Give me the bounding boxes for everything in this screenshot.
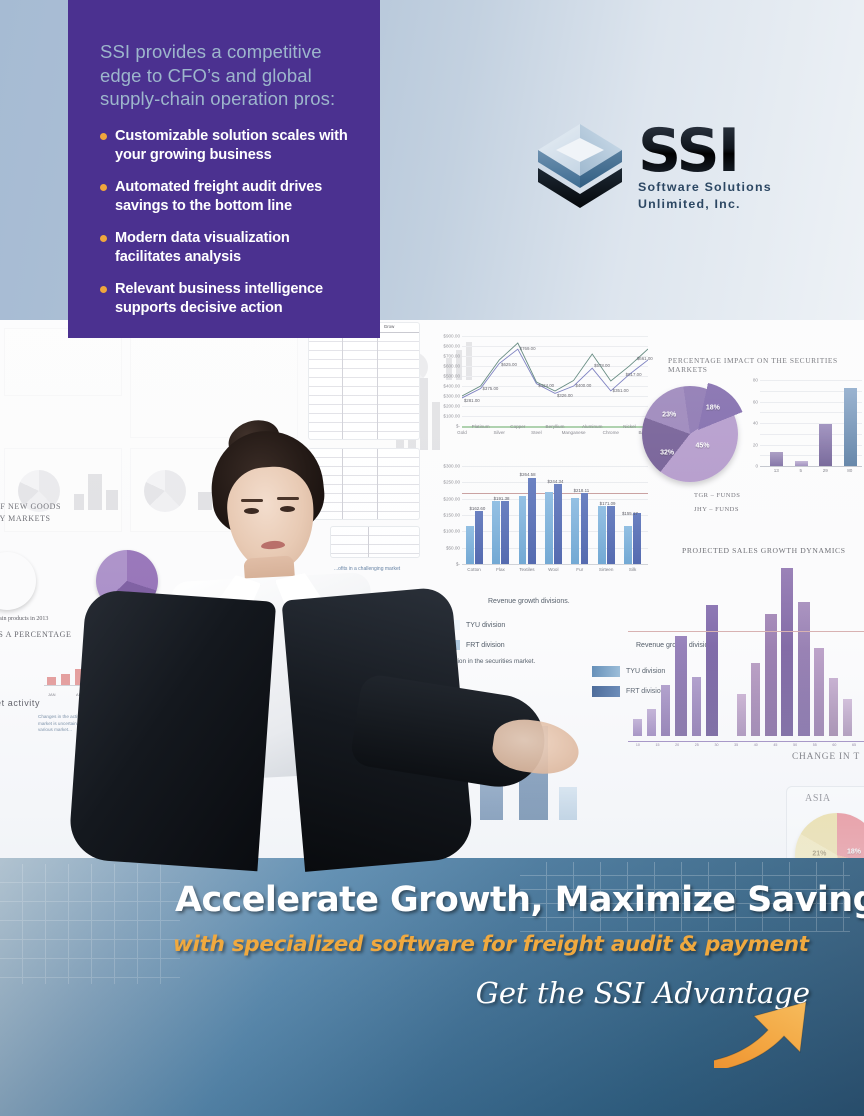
ytick: $600.00: [443, 363, 460, 368]
asia-pie-card: ASIA 21% 18%: [786, 786, 864, 865]
line-data-label: $326.00: [557, 393, 573, 398]
line-data-label: $517.00: [626, 372, 642, 377]
xtick: Manganese: [562, 430, 586, 435]
proj-bar: [737, 694, 746, 737]
asia-pie-label-18: 18%: [847, 848, 861, 855]
bar-80: [844, 388, 857, 466]
ssi-logo: SSI Software Solutions Unlimited, Inc.: [530, 110, 800, 222]
promo-bullet-2: Automated freight audit drives savings t…: [100, 178, 352, 216]
proj-bar: [829, 678, 838, 736]
promo-bullet-1: Customizable solution scales with your g…: [100, 127, 352, 165]
funds-pie-chart: 18% 45% 32% 23%: [638, 382, 742, 486]
line-data-label: $578.00: [594, 363, 610, 368]
bar-wool-light: [545, 492, 553, 564]
bar-data-label: $171.09: [600, 501, 616, 506]
ytick: $200.00: [443, 403, 460, 408]
metals-data-table: Grow: [308, 322, 420, 440]
legend-tgr-funds: TGR – FUNDS: [694, 492, 740, 499]
bar-silk-dark: [633, 513, 641, 564]
ssi-tagline-line2: Unlimited, Inc.: [638, 197, 772, 212]
promo-bullet-4: Relevant business intelligence supports …: [100, 280, 352, 318]
line-data-label: $351.00: [613, 388, 629, 393]
securities-bar-chart: 80 60 40 20 0 13 5 29 80: [746, 376, 864, 484]
promo-bullet-3: Modern data visualization facilitates an…: [100, 229, 352, 267]
promo-bullet-1-text: Customizable solution scales with your g…: [115, 128, 348, 163]
ssi-logo-text: SSI Software Solutions Unlimited, Inc.: [638, 120, 772, 212]
brochure-page: SSI provides a competitive edge to CFO’s…: [0, 0, 864, 1116]
xtick: Chrome: [603, 430, 619, 435]
proj-bar: [633, 719, 642, 736]
xtick: 5: [800, 468, 803, 473]
proj-bar: [706, 605, 718, 736]
promo-bullet-4-text: Relevant business intelligence supports …: [115, 281, 323, 316]
line-data-label: $661.00: [637, 356, 653, 361]
xtick: Wool: [548, 567, 558, 572]
proj-bar: [765, 614, 777, 736]
line-data-label: $625.00: [501, 362, 517, 367]
line-series-svg: [462, 336, 648, 426]
legend-jhy-funds: JHY – FUNDS: [694, 506, 739, 513]
bar-29: [819, 424, 832, 466]
ytick: 40: [753, 421, 758, 426]
legend-swatch-frt: [592, 686, 620, 697]
ytick: 20: [753, 442, 758, 447]
promo-bullet-2-text: Automated freight audit drives savings t…: [115, 179, 322, 214]
ytick: $400.00: [443, 383, 460, 388]
bullet-dot-icon: [100, 286, 107, 293]
growth-arrow: [714, 980, 844, 1068]
proj-axis-ticks: 101520253035 404550556065: [628, 743, 864, 750]
pie-label: 45%: [695, 443, 709, 450]
line-data-label: $769.00: [520, 346, 536, 351]
business-woman-photo: [25, 425, 545, 865]
securities-markets-title: PERCENTAGE IMPACT ON THE SECURITIES MARK…: [668, 356, 864, 374]
promo-heading: SSI provides a competitive edge to CFO’s…: [100, 40, 352, 111]
proj-bar: [675, 636, 687, 736]
xtick: Fur: [576, 567, 583, 572]
bullet-dot-icon: [100, 235, 107, 242]
jacket-left: [68, 589, 276, 872]
line-data-label: $375.00: [482, 386, 498, 391]
ssi-cube-logo-icon: [530, 116, 630, 216]
ytick: 80: [753, 378, 758, 383]
proj-bar: [843, 699, 852, 736]
xtick: Nickel: [623, 424, 636, 429]
asia-title: ASIA: [805, 793, 831, 804]
bar-data-label: $218.11: [574, 488, 590, 493]
projected-sales-bar-chart: 101520253035 404550556065: [628, 564, 864, 750]
bar-silk-light: [624, 526, 632, 564]
proj-bar: [692, 677, 701, 737]
ytick: $300.00: [443, 393, 460, 398]
bar-wool-dark: [554, 484, 562, 564]
ytick: $700.00: [443, 353, 460, 358]
banner-subhead: with specialized software for freight au…: [173, 932, 838, 957]
xtick: 80: [847, 468, 852, 473]
line-data-label: $281.00: [464, 398, 480, 403]
eye-right: [280, 506, 295, 512]
bar-data-label: $155.17: [622, 511, 638, 516]
funds-pie-exploded-slice: [650, 382, 746, 478]
pie-label: 23%: [662, 412, 676, 419]
xtick: Beryllium: [546, 424, 565, 429]
line-data-label: $400.00: [575, 383, 591, 388]
change-in-title: CHANGE IN T: [792, 752, 860, 762]
projected-sales-title: PROJECTED SALES GROWTH DYNAMICS: [682, 546, 846, 555]
bar-extra: [559, 787, 577, 820]
bar-5: [795, 461, 808, 466]
bar-sirteen-dark: [607, 506, 615, 564]
xtick: Sirteen: [599, 567, 614, 572]
eyebrow-right: [277, 497, 299, 500]
asia-pie-label-21: 21%: [812, 850, 826, 857]
ytick: $800.00: [443, 343, 460, 348]
ytick: $500.00: [443, 373, 460, 378]
bar-fur-dark: [581, 493, 589, 564]
ssi-tagline-line1: Software Solutions: [638, 180, 772, 195]
pie-label: 18%: [706, 405, 720, 412]
banner-headline: Accelerate Growth, Maximize Savings: [175, 880, 835, 920]
line-data-label: $424.00: [538, 383, 554, 388]
bullet-dot-icon: [100, 184, 107, 191]
bar-fur-light: [571, 498, 579, 564]
pie-label: 32%: [660, 449, 674, 456]
legend-swatch-tyu: [592, 666, 620, 677]
proj-bar: [661, 685, 670, 736]
eye-left: [244, 508, 259, 514]
proj-bar: [781, 568, 793, 736]
xtick: 13: [774, 468, 779, 473]
ytick: $100.00: [443, 413, 460, 418]
ssi-wordmark: SSI: [638, 124, 772, 178]
ytick: 60: [753, 399, 758, 404]
promo-panel: SSI provides a competitive edge to CFO’s…: [68, 0, 380, 338]
ytick: $900.00: [443, 334, 460, 339]
promo-bullet-3-text: Modern data visualization facilitates an…: [115, 230, 290, 265]
proj-bar: [798, 602, 810, 736]
proj-bar: [814, 648, 823, 736]
bottom-banner: Accelerate Growth, Maximize Savings with…: [0, 858, 864, 1116]
bar-sirteen-light: [598, 506, 606, 564]
bullet-dot-icon: [100, 133, 107, 140]
xtick: 29: [823, 468, 828, 473]
xtick: Aluminum: [582, 424, 602, 429]
orange-arrow-icon: [714, 980, 844, 1068]
bar-13: [770, 452, 783, 466]
proj-bar: [647, 709, 656, 736]
promo-bullet-list: Customizable solution scales with your g…: [100, 127, 352, 318]
proj-bar: [751, 663, 760, 736]
bar-data-label: $244.34: [548, 479, 564, 484]
eyebrow-left: [241, 499, 263, 502]
ytick: 0: [755, 464, 758, 469]
